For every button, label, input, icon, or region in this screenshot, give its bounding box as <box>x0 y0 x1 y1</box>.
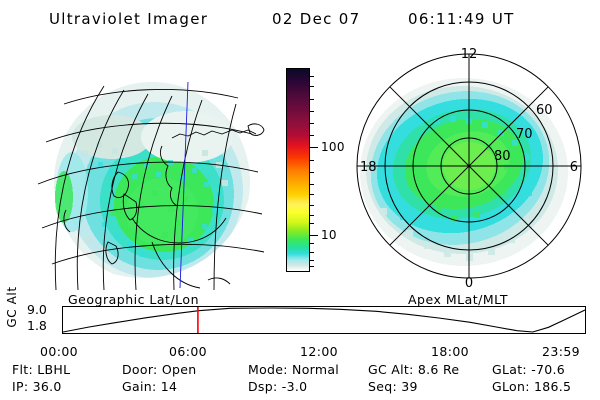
time-axis-label-0: 00:00 <box>40 344 78 359</box>
colorbar-minor-tick <box>310 111 314 112</box>
observation-time: 06:11:49 UT <box>408 8 515 30</box>
mlt-dial-panel: 12 6 0 18 60 70 80 <box>340 40 598 292</box>
status-field-mode: Mode: Normal <box>248 362 339 377</box>
colorbar-minor-tick <box>310 184 314 185</box>
mlt-label-0: 0 <box>465 276 473 291</box>
mlt-label-12: 12 <box>461 47 478 62</box>
colorbar-minor-tick <box>310 76 314 77</box>
colorbar-minor-tick <box>310 99 314 100</box>
observation-date: 02 Dec 07 <box>272 8 360 30</box>
status-field-door: Door: Open <box>122 362 196 377</box>
time-axis-label-1: 06:00 <box>169 344 207 359</box>
colorbar-minor-tick <box>310 194 314 195</box>
status-row: IP: 36.0Gain: 14Dsp: -3.0Seq: 39GLon: 18… <box>0 379 600 396</box>
mlt-panel-title: Apex MLat/MLT <box>408 292 508 307</box>
colorbar-minor-tick <box>310 266 314 267</box>
time-axis-label-2: 12:00 <box>300 344 338 359</box>
mlt-dial-plot: 12 6 0 18 60 70 80 <box>340 40 598 292</box>
time-axis: 00:0006:0012:0018:0023:59 <box>0 344 600 360</box>
uvi-display: Ultraviolet Imager 02 Dec 07 06:11:49 UT <box>0 0 600 400</box>
colorbar-minor-tick <box>310 172 314 173</box>
status-field-ip: IP: 36.0 <box>12 379 62 394</box>
colorbar-major-tick <box>310 147 318 148</box>
colorbar-minor-tick <box>310 223 314 224</box>
orbit-ytick-low: 1.8 <box>27 318 47 333</box>
status-row: Flt: LBHLDoor: OpenMode: NormalGC Alt: 8… <box>0 362 600 379</box>
colorbar-major-tick <box>310 235 318 236</box>
header: Ultraviolet Imager 02 Dec 07 06:11:49 UT <box>0 8 600 32</box>
auroral-emission-geo <box>33 58 253 282</box>
orbit-ytick-high: 9.0 <box>27 302 47 317</box>
status-bar: Flt: LBHLDoor: OpenMode: NormalGC Alt: 8… <box>0 362 600 398</box>
colorbar-minor-tick <box>310 252 314 253</box>
colorbar: photon cm-2s-1 10010 <box>270 60 348 290</box>
page-title: Ultraviolet Imager <box>49 8 208 30</box>
colorbar-minor-tick <box>310 205 314 206</box>
colorbar-minor-tick <box>310 260 314 261</box>
mlat-label-60: 60 <box>536 103 553 118</box>
geographic-plot <box>12 42 274 290</box>
orbit-altitude-panel: GC Alt Geographic Lat/Lon Apex MLat/MLT … <box>0 292 600 344</box>
status-field-dsp: Dsp: -3.0 <box>248 379 307 394</box>
colorbar-minor-tick <box>310 86 314 87</box>
colorbar-minor-tick <box>310 123 314 124</box>
orbit-curve-svg <box>63 307 585 333</box>
status-field-gc alt: GC Alt: 8.6 Re <box>368 362 459 377</box>
status-field-seq: Seq: 39 <box>368 379 418 394</box>
mlt-label-6: 6 <box>570 160 578 175</box>
mlt-label-18: 18 <box>360 160 377 175</box>
colorbar-minor-tick <box>310 135 314 136</box>
colorbar-tick-label-1: 10 <box>321 235 337 236</box>
status-field-glat: GLat: -70.6 <box>492 362 565 377</box>
geographic-image-panel <box>12 42 274 290</box>
orbit-altitude-plot <box>62 306 586 334</box>
status-field-glon: GLon: 186.5 <box>492 379 571 394</box>
status-field-flt: Flt: LBHL <box>12 362 70 377</box>
time-axis-label-3: 18:00 <box>431 344 469 359</box>
colorbar-gradient <box>286 68 310 272</box>
colorbar-minor-tick <box>310 160 314 161</box>
colorbar-minor-tick <box>310 215 314 216</box>
mlat-label-70: 70 <box>516 127 533 142</box>
orbit-y-axis-label: GC Alt <box>5 283 19 331</box>
mlat-label-80: 80 <box>494 149 511 164</box>
time-axis-label-4: 23:59 <box>542 344 580 359</box>
orbit-curve <box>63 308 585 332</box>
geographic-panel-title: Geographic Lat/Lon <box>68 292 199 307</box>
status-field-gain: Gain: 14 <box>122 379 177 394</box>
mlt-grid <box>357 54 581 278</box>
colorbar-minor-tick <box>310 243 314 244</box>
